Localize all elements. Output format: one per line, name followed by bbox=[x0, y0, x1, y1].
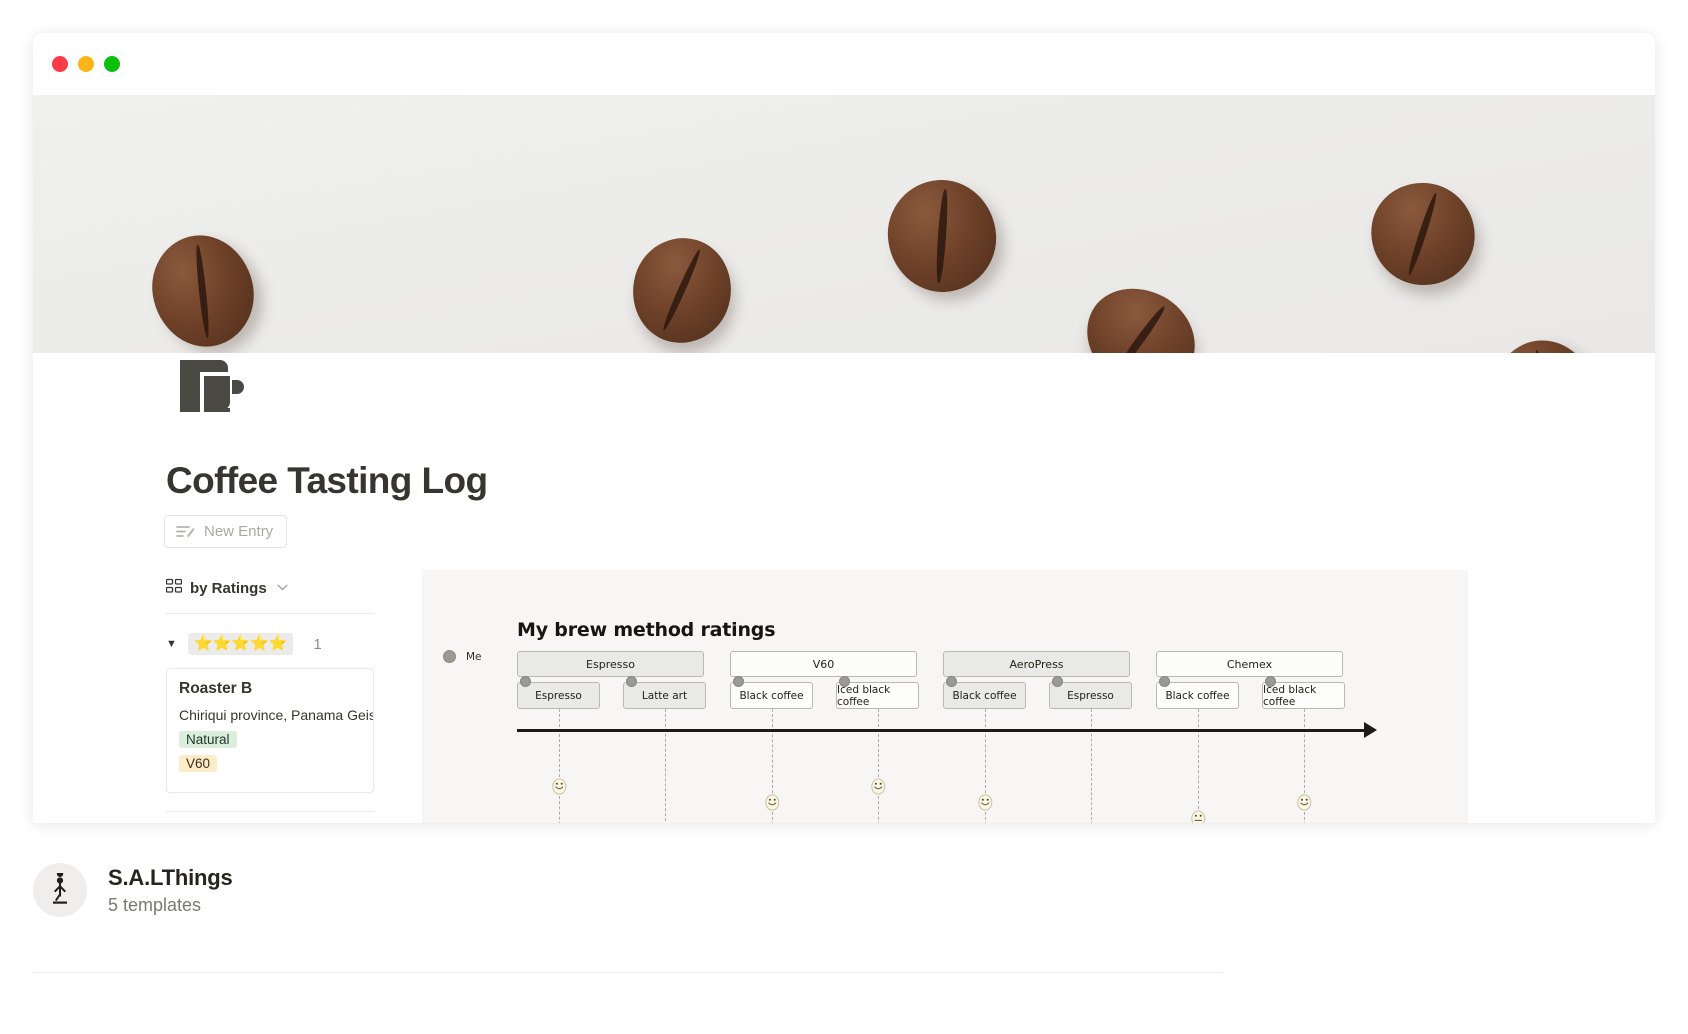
entry-subtitle: Chiriqui province, Panama Geisha bbox=[179, 707, 361, 723]
connector-line bbox=[1198, 709, 1199, 809]
divider bbox=[166, 613, 374, 614]
group-toggle-icon[interactable]: ▼ bbox=[166, 639, 178, 650]
app-window: Coffee Tasting Log New Entry bbox=[33, 33, 1655, 823]
node-dot[interactable] bbox=[520, 676, 531, 687]
diagram-legend: Me bbox=[443, 650, 482, 663]
close-window-button[interactable] bbox=[52, 56, 68, 72]
window-titlebar bbox=[33, 33, 1655, 95]
drink-box[interactable]: Espresso bbox=[1049, 682, 1132, 709]
legend-label: Me bbox=[466, 651, 482, 663]
author-name: S.A.LThings bbox=[108, 865, 233, 891]
divider bbox=[166, 811, 374, 812]
template-author[interactable]: S.A.LThings 5 templates bbox=[33, 863, 233, 917]
status-badge: ⭐⭐⭐⭐⭐ bbox=[188, 633, 293, 655]
node-dot[interactable] bbox=[733, 676, 744, 687]
group-header-5-stars: ▼ ⭐⭐⭐⭐⭐ 1 bbox=[166, 627, 374, 661]
avatar bbox=[33, 863, 87, 917]
rating-face-happy-icon[interactable] bbox=[764, 793, 781, 817]
drink-box[interactable]: Iced black coffee bbox=[836, 682, 919, 709]
template-count: 5 templates bbox=[108, 895, 233, 916]
node-dot[interactable] bbox=[1052, 676, 1063, 687]
divider bbox=[33, 972, 1223, 973]
method-box[interactable]: Espresso bbox=[517, 651, 704, 677]
connector-line bbox=[559, 709, 560, 777]
entry-title: Roaster B bbox=[179, 680, 361, 698]
coffee-bean bbox=[620, 227, 743, 353]
node-dot[interactable] bbox=[626, 676, 637, 687]
timeline-axis bbox=[517, 729, 1369, 732]
node-dot[interactable] bbox=[1265, 676, 1276, 687]
method-box[interactable]: V60 bbox=[730, 651, 917, 677]
rating-face-neutral-icon[interactable] bbox=[1190, 809, 1207, 823]
node-dot[interactable] bbox=[1159, 676, 1170, 687]
connector-line bbox=[878, 709, 879, 777]
view-tab-by-ratings[interactable]: by Ratings bbox=[166, 573, 374, 603]
connector-line bbox=[985, 709, 986, 793]
coffee-bean bbox=[884, 176, 1000, 295]
method-box[interactable]: Chemex bbox=[1156, 651, 1343, 677]
brew-method-diagram[interactable]: My brew method ratings Me EspressoV60Aer… bbox=[422, 570, 1468, 823]
rating-face-happy-icon[interactable] bbox=[551, 777, 568, 801]
minimize-window-button[interactable] bbox=[78, 56, 94, 72]
node-dot[interactable] bbox=[946, 676, 957, 687]
connector-line bbox=[1304, 709, 1305, 793]
drink-box[interactable]: Black coffee bbox=[943, 682, 1026, 709]
drink-box[interactable]: Black coffee bbox=[1156, 682, 1239, 709]
list-item[interactable]: Roaster B Chiriqui province, Panama Geis… bbox=[166, 668, 374, 793]
new-entry-icon bbox=[176, 524, 195, 539]
drink-box[interactable]: Iced black coffee bbox=[1262, 682, 1345, 709]
coffee-maker-icon[interactable] bbox=[174, 346, 246, 418]
rating-face-happy-icon[interactable] bbox=[977, 793, 994, 817]
new-entry-button[interactable]: New Entry bbox=[164, 515, 287, 548]
author-info: S.A.LThings 5 templates bbox=[108, 865, 233, 916]
connector-line bbox=[1091, 709, 1092, 823]
node-dot[interactable] bbox=[839, 676, 850, 687]
coffee-bean bbox=[1363, 175, 1483, 294]
gallery-grid-icon bbox=[166, 578, 182, 598]
coffee-bean bbox=[1069, 270, 1212, 353]
page-title: Coffee Tasting Log bbox=[166, 460, 488, 502]
coffee-bean bbox=[1481, 327, 1609, 353]
coffee-bean bbox=[141, 225, 265, 353]
connector-line bbox=[772, 709, 773, 793]
cover-image bbox=[33, 95, 1655, 353]
database-panel: by Ratings ▼ ⭐⭐⭐⭐⭐ 1 Roaster B Chiriqui … bbox=[166, 573, 374, 823]
drink-box[interactable]: Espresso bbox=[517, 682, 600, 709]
view-tab-label: by Ratings bbox=[190, 580, 267, 597]
page-root: Coffee Tasting Log New Entry bbox=[0, 0, 1688, 1034]
rating-face-happy-icon[interactable] bbox=[1296, 793, 1313, 817]
chevron-down-icon[interactable] bbox=[277, 582, 288, 594]
drink-box[interactable]: Latte art bbox=[623, 682, 706, 709]
group-count: 1 bbox=[313, 636, 321, 653]
rating-face-happy-icon[interactable] bbox=[870, 777, 887, 801]
method-box[interactable]: AeroPress bbox=[943, 651, 1130, 677]
timeline-arrow-icon bbox=[1364, 722, 1377, 738]
tag-method: V60 bbox=[179, 755, 217, 772]
connector-line bbox=[665, 709, 666, 823]
diagram-title: My brew method ratings bbox=[517, 619, 775, 641]
new-entry-label: New Entry bbox=[204, 523, 273, 540]
drink-box[interactable]: Black coffee bbox=[730, 682, 813, 709]
maximize-window-button[interactable] bbox=[104, 56, 120, 72]
legend-swatch bbox=[443, 650, 456, 663]
tag-process: Natural bbox=[179, 731, 237, 748]
